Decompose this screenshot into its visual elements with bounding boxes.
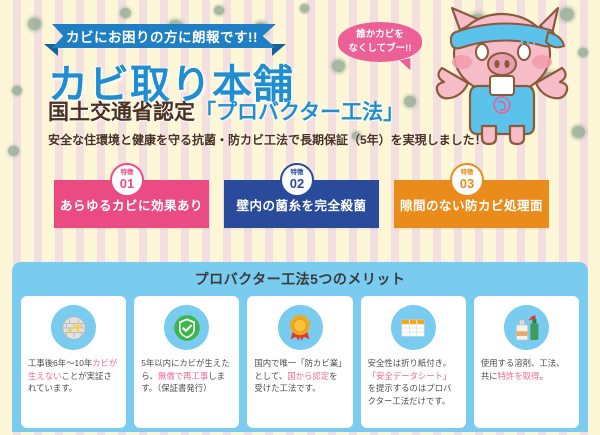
mold-spot <box>8 146 19 156</box>
merit-card-text: 5年以内にカビが生えたら、無償で再工事します。（保証書発行） <box>141 357 232 395</box>
merit-card-list: 工事後6年～10年カビが生えないことが実証されています。 5年以内にカビが生えた… <box>12 296 588 428</box>
merit-card[interactable]: 安全性は折り紙付き。「安全データシート」を提示するのはプロバクター工法だけです。 <box>361 296 466 428</box>
feature-badge-number-1: 01 <box>120 177 134 190</box>
award-medal-icon <box>278 305 323 350</box>
brick-wall-sparkle-icon <box>51 305 96 350</box>
mold-spot <box>120 8 131 18</box>
feature-badge-1: 特徴 01 <box>110 163 144 197</box>
merit-card[interactable]: 使用する溶剤、工法、共に特許を取得。 <box>474 296 579 428</box>
feature-badge-3: 特徴 03 <box>450 163 484 197</box>
mold-spot <box>404 96 416 107</box>
feature-badge-number-3: 03 <box>460 177 474 190</box>
mold-spot <box>300 4 309 13</box>
subtitle-method: 「プロバクター工法」 <box>195 101 404 124</box>
merit-card-text: 国内で唯一「防カビ業」として、国から認定を受けた工法です。 <box>254 357 345 395</box>
merit-card[interactable]: 5年以内にカビが生えたら、無償で再工事します。（保証書発行） <box>134 296 239 428</box>
subtitle: 国土交通省認定「プロバクター工法」 <box>48 96 404 126</box>
mold-spot <box>12 86 22 95</box>
speech-bubble: 誰かカビをなくしてブー!! <box>338 22 422 62</box>
subtitle-government: 国土交通省認定 <box>48 101 195 124</box>
merit-card[interactable]: 国内で唯一「防カビ業」として、国から認定を受けた工法です。 <box>247 296 352 428</box>
mold-spot <box>332 60 345 72</box>
announcement-ribbon: カビにお困りの方に朗報です!! <box>52 24 276 48</box>
spray-bottles-icon <box>504 305 549 350</box>
merit-card-text: 安全性は折り紙付き。「安全データシート」を提示するのはプロバクター工法だけです。 <box>368 357 459 407</box>
merit-card-text: 工事後6年～10年カビが生えないことが実証されています。 <box>28 357 119 395</box>
mold-spot <box>28 18 41 30</box>
pig-mascot <box>430 2 590 157</box>
shield-check-icon <box>164 305 209 350</box>
lead-text: 安全な住環境と健康を守る抗菌・防カビ工法で長期保証（5年）を実現しました！ <box>48 131 487 148</box>
merits-panel: プロバクター工法5つのメリット 工事後6年～10年カビが生えないことが実証されて… <box>12 262 588 432</box>
merits-title: プロバクター工法5つのメリット <box>12 262 588 296</box>
feature-boxes: あらゆるカビに効果あり 特徴 01 壁内の菌糸を完全殺菌 特徴 02 隙間のない… <box>0 170 600 232</box>
mold-spot <box>214 6 224 15</box>
feature-badge-2: 特徴 02 <box>280 163 314 197</box>
page-root: カビにお困りの方に朗報です!! カビ取り本舗 国土交通省認定「プロバクター工法」… <box>0 0 600 435</box>
speech-bubble-text: 誰かカビをなくしてブー!! <box>348 28 411 56</box>
merit-card[interactable]: 工事後6年～10年カビが生えないことが実証されています。 <box>21 296 126 428</box>
data-sheet-table-icon <box>391 305 436 350</box>
merit-card-text: 使用する溶剤、工法、共に特許を取得。 <box>481 357 572 382</box>
feature-badge-number-2: 02 <box>290 177 304 190</box>
